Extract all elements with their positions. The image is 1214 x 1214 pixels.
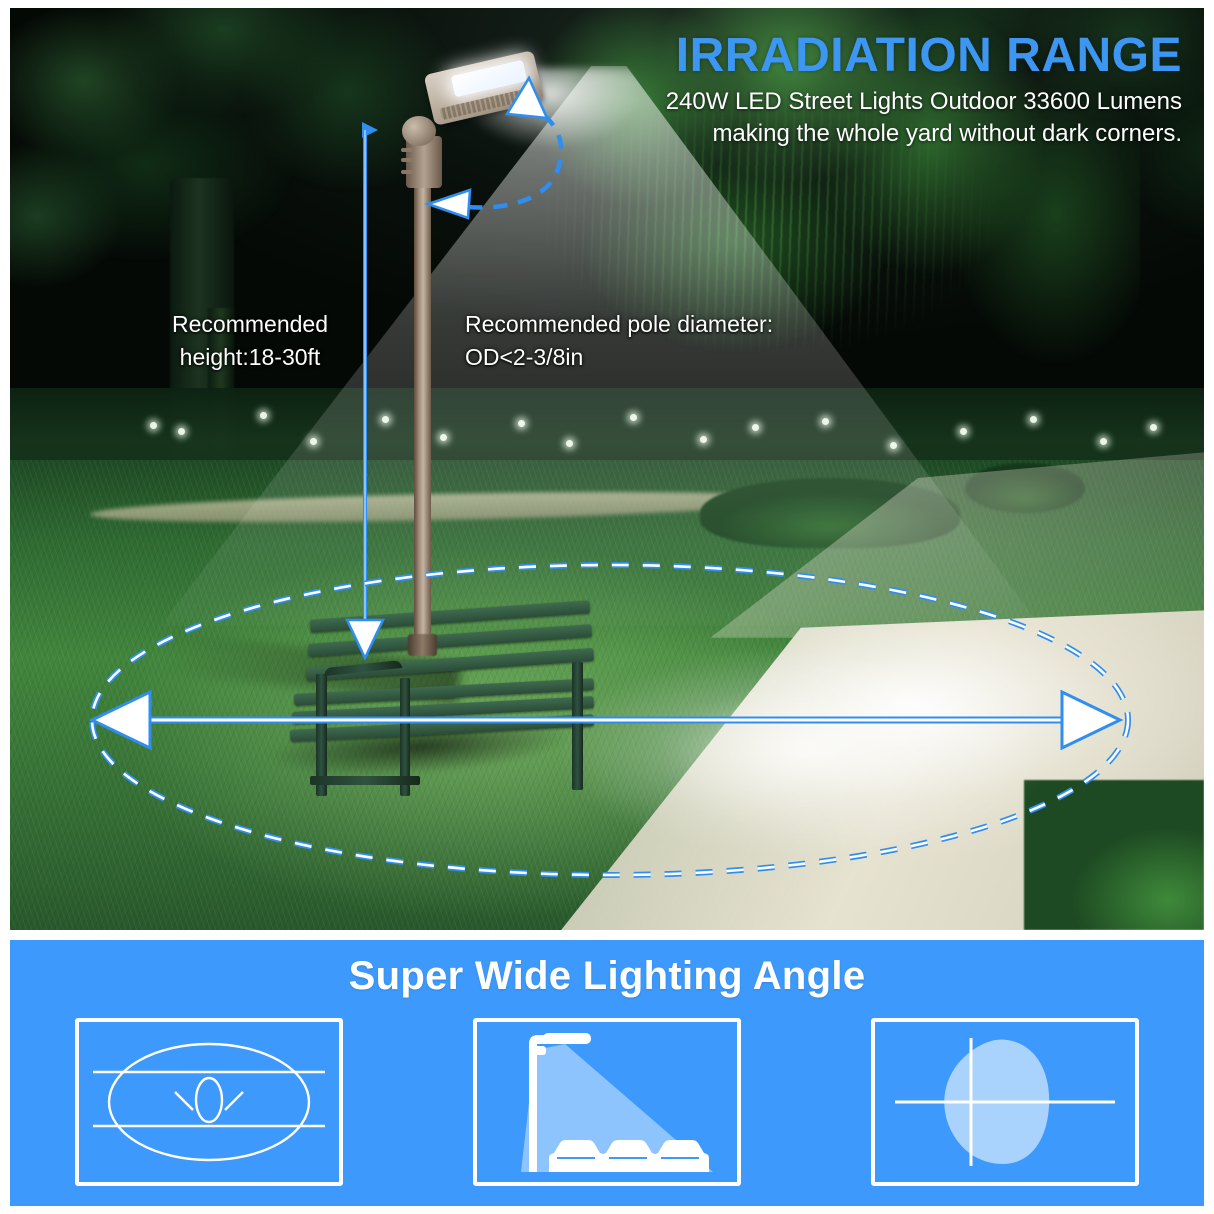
height-label-line-1: Recommended <box>150 308 350 341</box>
recommended-height-label: Recommended height:18-30ft <box>150 308 350 373</box>
subtitle-line-1: 240W LED Street Lights Outdoor 33600 Lum… <box>622 86 1182 118</box>
height-label-line-2: height:18-30ft <box>150 341 350 374</box>
top-view-distribution-icon <box>79 1022 339 1182</box>
pole-label-line-2: OD<2-3/8in <box>465 341 795 374</box>
street-light-cars-panel <box>473 1018 741 1186</box>
subtitle-line-2: making the whole yard without dark corne… <box>622 118 1182 150</box>
diagram-panels <box>10 1018 1204 1198</box>
page-title: IRRADIATION RANGE <box>676 28 1182 83</box>
night-park-photo: IRRADIATION RANGE 240W LED Street Lights… <box>10 8 1204 930</box>
polar-curve-panel <box>871 1018 1139 1186</box>
lighting-area-width-arrow <box>92 692 1120 748</box>
street-light-beam-cars-icon <box>477 1022 737 1182</box>
pole-label-line-1: Recommended pole diameter: <box>465 308 795 341</box>
polar-photometric-curve-icon <box>875 1022 1135 1182</box>
infographic-page: IRRADIATION RANGE 240W LED Street Lights… <box>0 0 1214 1214</box>
banner-title: Super Wide Lighting Angle <box>10 954 1204 999</box>
recommended-pole-diameter-label: Recommended pole diameter: OD<2-3/8in <box>465 308 795 373</box>
top-view-distribution-panel <box>75 1018 343 1186</box>
page-subtitle: 240W LED Street Lights Outdoor 33600 Lum… <box>622 86 1182 149</box>
lighting-angle-banner: Super Wide Lighting Angle <box>10 940 1204 1206</box>
rotation-angle-arc <box>428 78 561 218</box>
car-icons <box>549 1140 709 1172</box>
